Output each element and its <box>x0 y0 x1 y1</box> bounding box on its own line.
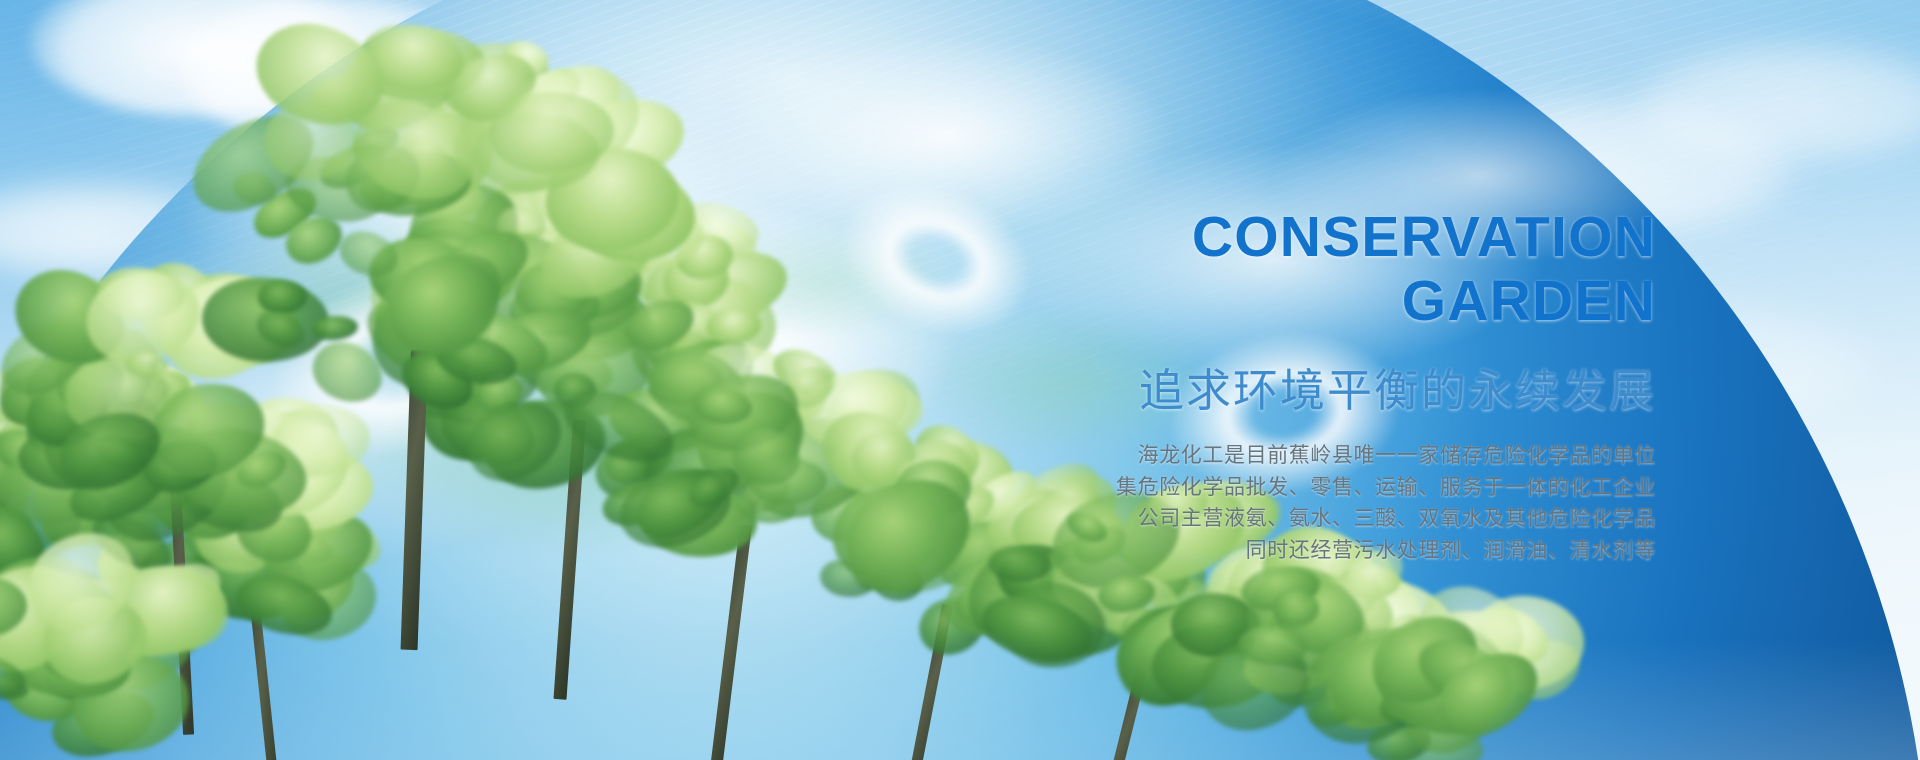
banner-copy: CONSERVATION GARDEN 追求环境平衡的永续发展 海龙化工是目前蕉… <box>1016 206 1656 567</box>
subheadline: 追求环境平衡的永续发展 <box>1016 364 1656 418</box>
description-line: 公司主营液氨、氨水、三酸、双氧水及其他危险化学品 <box>1016 503 1656 535</box>
description-line: 海龙化工是目前蕉岭县唯一一家储存危险化学品的单位 <box>1016 440 1656 472</box>
headline-line-2: GARDEN <box>1016 270 1656 334</box>
description-line: 集危险化学品批发、零售、运输、服务于一体的化工企业 <box>1016 472 1656 504</box>
description-paragraph: 海龙化工是目前蕉岭县唯一一家储存危险化学品的单位集危险化学品批发、零售、运输、服… <box>1016 440 1656 568</box>
description-line: 同时还经营污水处理剂、润滑油、清水剂等 <box>1016 535 1656 567</box>
hero-banner: CONSERVATION GARDEN 追求环境平衡的永续发展 海龙化工是目前蕉… <box>0 0 1920 760</box>
headline-line-1: CONSERVATION <box>1192 205 1656 269</box>
page-title: CONSERVATION GARDEN <box>1016 206 1656 334</box>
